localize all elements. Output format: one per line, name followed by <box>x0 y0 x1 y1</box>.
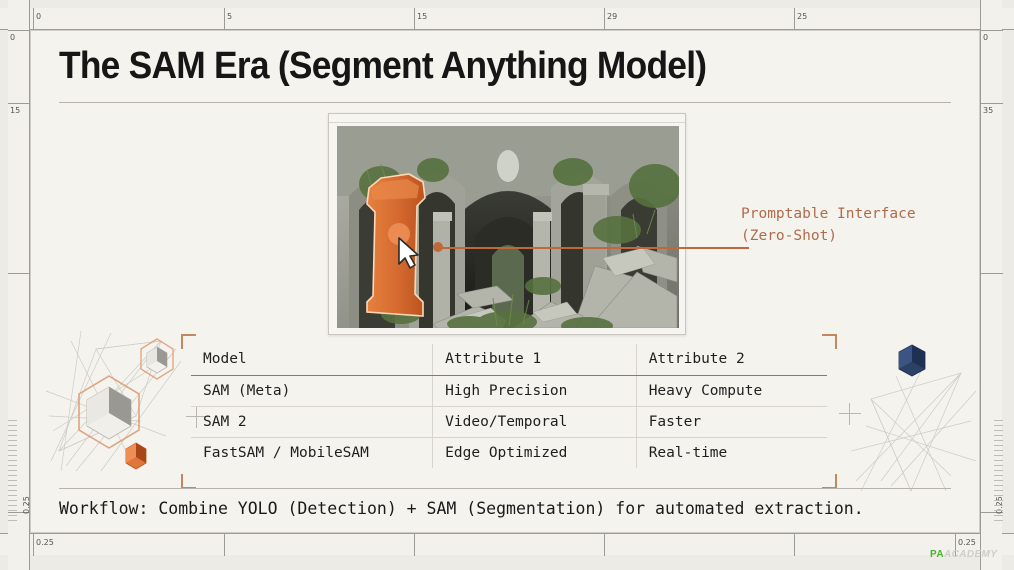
page-title: The SAM Era (Segment Anything Model) <box>59 45 706 88</box>
ruler-minor-tick <box>8 470 17 471</box>
column-header-attribute-1: Attribute 1 <box>433 344 637 376</box>
ruler-minor-tick <box>994 420 1003 421</box>
bracket-bottom-right-icon <box>822 474 837 489</box>
ruler-tick-label: 0 <box>983 33 988 42</box>
comparison-table: Model Attribute 1 Attribute 2 SAM (Meta)… <box>191 344 827 479</box>
ruler-minor-tick <box>994 520 1003 521</box>
ruler-tick-label: 15 <box>417 12 427 21</box>
figure-window <box>328 113 686 335</box>
ruler-minor-tick <box>994 490 1003 491</box>
ruler-minor-tick <box>8 465 17 466</box>
ruler-left[interactable]: 0150.25 <box>8 0 30 570</box>
screenshot-canvas: The SAM Era (Segment Anything Model) <box>0 0 1014 570</box>
ruler-minor-tick <box>994 485 1003 486</box>
ruler-minor-tick <box>8 425 17 426</box>
table-row: SAM 2 Video/Temporal Faster <box>191 407 827 438</box>
callout-line-2: (Zero-Shot) <box>741 228 837 244</box>
ruler-tick <box>794 534 795 556</box>
ruler-minor-tick <box>8 500 17 501</box>
ruler-tick <box>414 534 415 556</box>
ruler-minor-tick <box>8 420 17 421</box>
ruler-tick-label: 15 <box>10 106 20 115</box>
ruler-tick: 25 <box>794 8 795 30</box>
footer-divider <box>59 488 951 489</box>
table-row: SAM (Meta) High Precision Heavy Compute <box>191 376 827 407</box>
slide-card: The SAM Era (Segment Anything Model) <box>30 30 980 533</box>
callout-label: Promptable Interface (Zero-Shot) <box>741 203 916 247</box>
ruler-minor-tick <box>994 455 1003 456</box>
ruler-minor-tick <box>8 515 17 516</box>
ruler-tick-label: 0 <box>10 33 15 42</box>
ruler-minor-tick <box>8 455 17 456</box>
callout-leader-line <box>438 247 749 249</box>
ruler-tick: 29 <box>604 8 605 30</box>
ruler-minor-tick <box>994 470 1003 471</box>
cell-attribute-1: High Precision <box>433 376 637 407</box>
ruler-minor-tick <box>8 495 17 496</box>
watermark-brand: PA <box>930 549 944 560</box>
bracket-top-left-icon <box>181 334 196 349</box>
ruler-minor-tick <box>994 430 1003 431</box>
ruler-tick: 35 <box>981 103 1003 104</box>
ruler-tick-label: 35 <box>983 106 993 115</box>
ruler-tick: 0.25 <box>33 534 34 556</box>
table-header-row: Model Attribute 1 Attribute 2 <box>191 344 827 376</box>
workflow-caption: Workflow: Combine YOLO (Detection) + SAM… <box>59 499 864 518</box>
cell-model: SAM (Meta) <box>191 376 433 407</box>
ruler-minor-tick <box>994 480 1003 481</box>
ruler-tick: 0.25 <box>981 512 1003 513</box>
ruler-tick: 0.25 <box>8 512 30 513</box>
ruler-minor-tick <box>994 465 1003 466</box>
figure-titlebar <box>329 114 685 123</box>
wireframe-blue-cube-icon <box>851 331 980 496</box>
segmented-ruins-photo[interactable] <box>337 126 679 328</box>
ruler-minor-tick <box>8 480 17 481</box>
ruler-minor-tick <box>8 475 17 476</box>
ruler-minor-tick <box>994 515 1003 516</box>
ruler-minor-tick <box>994 475 1003 476</box>
ruler-tick: 0 <box>8 30 30 31</box>
ruler-minor-tick <box>8 520 17 521</box>
ruler-minor-tick <box>994 425 1003 426</box>
ruler-tick-label: 0.25 <box>958 538 976 547</box>
ruler-tick <box>604 534 605 556</box>
crosshair-marker-right <box>839 403 861 425</box>
ruler-tick: 15 <box>414 8 415 30</box>
ruler-top[interactable]: 05152925 <box>0 8 1014 30</box>
callout-line-1: Promptable Interface <box>741 206 916 222</box>
ruler-minor-tick <box>8 505 17 506</box>
ruler-minor-tick <box>8 440 17 441</box>
ruler-tick: 5 <box>224 8 225 30</box>
ruler-minor-tick <box>8 460 17 461</box>
column-header-attribute-2: Attribute 2 <box>636 344 827 376</box>
ruler-minor-tick <box>994 440 1003 441</box>
cell-attribute-2: Heavy Compute <box>636 376 827 407</box>
ruler-minor-tick <box>994 445 1003 446</box>
column-header-model: Model <box>191 344 433 376</box>
ruler-minor-tick <box>994 450 1003 451</box>
title-divider <box>59 102 951 103</box>
ruler-tick-label: 25 <box>797 12 807 21</box>
ruler-minor-tick <box>8 510 17 511</box>
ruler-tick <box>981 273 1003 274</box>
ruler-minor-tick <box>994 500 1003 501</box>
ruler-minor-tick <box>994 510 1003 511</box>
watermark: PAACADEMY <box>930 549 997 560</box>
ruler-minor-tick <box>994 460 1003 461</box>
ruler-tick-label: 0.25 <box>22 496 31 514</box>
ruler-tick-label: 5 <box>227 12 232 21</box>
ruler-minor-tick <box>8 450 17 451</box>
ruler-bottom[interactable]: 0.250.25 <box>0 533 1014 555</box>
ruler-minor-tick <box>8 445 17 446</box>
cell-attribute-2: Faster <box>636 407 827 438</box>
cell-model: SAM 2 <box>191 407 433 438</box>
ruler-right[interactable]: 0350.25 <box>980 0 1002 570</box>
ruler-minor-tick <box>8 490 17 491</box>
cell-attribute-2: Real-time <box>636 438 827 469</box>
ruler-minor-tick <box>994 435 1003 436</box>
cell-model: FastSAM / MobileSAM <box>191 438 433 469</box>
ruler-tick <box>224 534 225 556</box>
ruler-minor-tick <box>994 505 1003 506</box>
ruler-tick: 15 <box>8 103 30 104</box>
ruler-minor-tick <box>8 485 17 486</box>
ruler-tick-label: 29 <box>607 12 617 21</box>
cell-attribute-1: Video/Temporal <box>433 407 637 438</box>
ruler-minor-tick <box>8 435 17 436</box>
ruler-tick-label: 0.25 <box>36 538 54 547</box>
ruler-tick-label: 0 <box>36 12 41 21</box>
ruler-tick: 0 <box>33 8 34 30</box>
ruler-minor-tick <box>994 495 1003 496</box>
cell-attribute-1: Edge Optimized <box>433 438 637 469</box>
table-row: FastSAM / MobileSAM Edge Optimized Real-… <box>191 438 827 469</box>
bracket-top-right-icon <box>822 334 837 349</box>
ruler-tick <box>8 273 30 274</box>
watermark-suffix: ACADEMY <box>944 549 997 560</box>
ruler-minor-tick <box>8 430 17 431</box>
ruler-tick: 0 <box>981 30 1003 31</box>
bracket-bottom-left-icon <box>181 474 196 489</box>
